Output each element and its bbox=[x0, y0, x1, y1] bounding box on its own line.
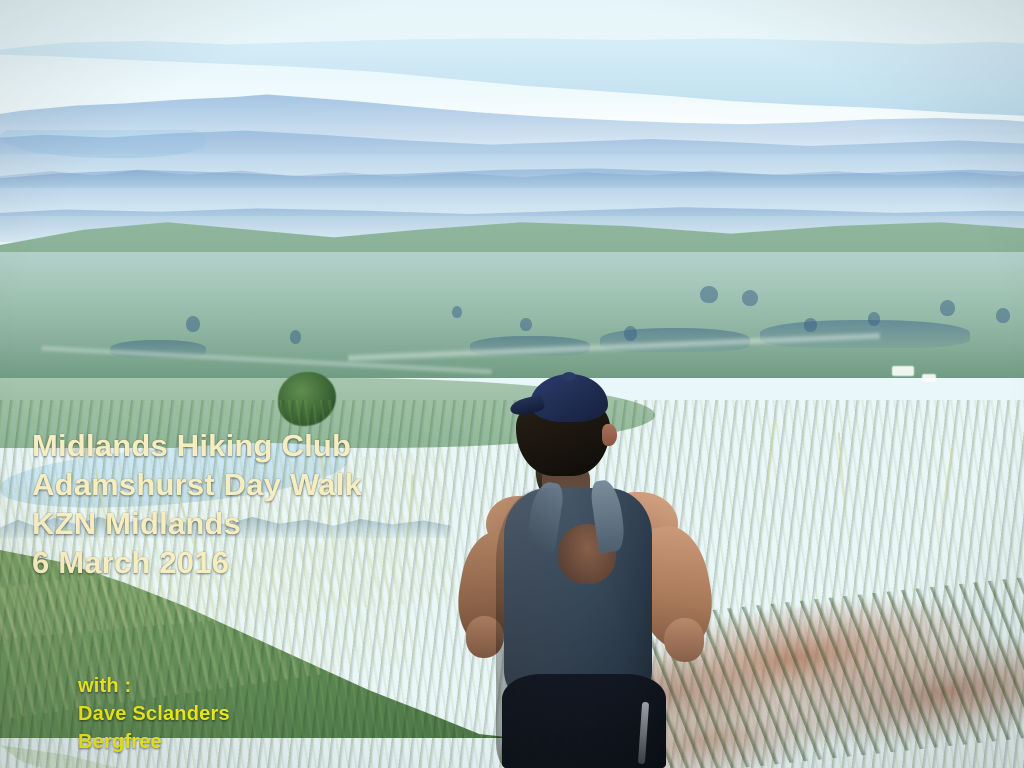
title-slide: Midlands Hiking Club Adamshurst Day Walk… bbox=[0, 0, 1024, 768]
title-line-1: Midlands Hiking Club bbox=[32, 426, 362, 465]
grass-seedhead bbox=[932, 438, 935, 452]
valley-tree bbox=[996, 308, 1010, 323]
valley-tree bbox=[700, 286, 718, 303]
hiker-cap-button bbox=[562, 372, 576, 381]
title-block: Midlands Hiking Club Adamshurst Day Walk… bbox=[32, 426, 362, 582]
valley-tree bbox=[290, 330, 301, 344]
title-line-2: Adamshurst Day Walk bbox=[32, 465, 362, 504]
valley-tree bbox=[742, 290, 758, 306]
credits-organisation: Bergfree bbox=[78, 728, 230, 756]
title-line-4: 6 March 2016 bbox=[32, 543, 362, 582]
hiker-figure bbox=[444, 372, 724, 768]
title-line-3: KZN Midlands bbox=[32, 504, 362, 543]
farm-building bbox=[892, 366, 914, 376]
photograph bbox=[0, 0, 1024, 768]
valley-tree bbox=[186, 316, 200, 332]
valley-tree bbox=[520, 318, 532, 331]
hiker-ear bbox=[602, 424, 617, 446]
grass-seedhead bbox=[758, 412, 761, 426]
credits-block: with : Dave Sclanders Bergfree bbox=[78, 672, 230, 756]
hiker-shading bbox=[496, 488, 672, 768]
credits-label: with : bbox=[78, 672, 230, 700]
valley-tree bbox=[452, 306, 462, 318]
valley-tree bbox=[940, 300, 955, 316]
farm-building bbox=[922, 374, 936, 382]
credits-name: Dave Sclanders bbox=[78, 700, 230, 728]
